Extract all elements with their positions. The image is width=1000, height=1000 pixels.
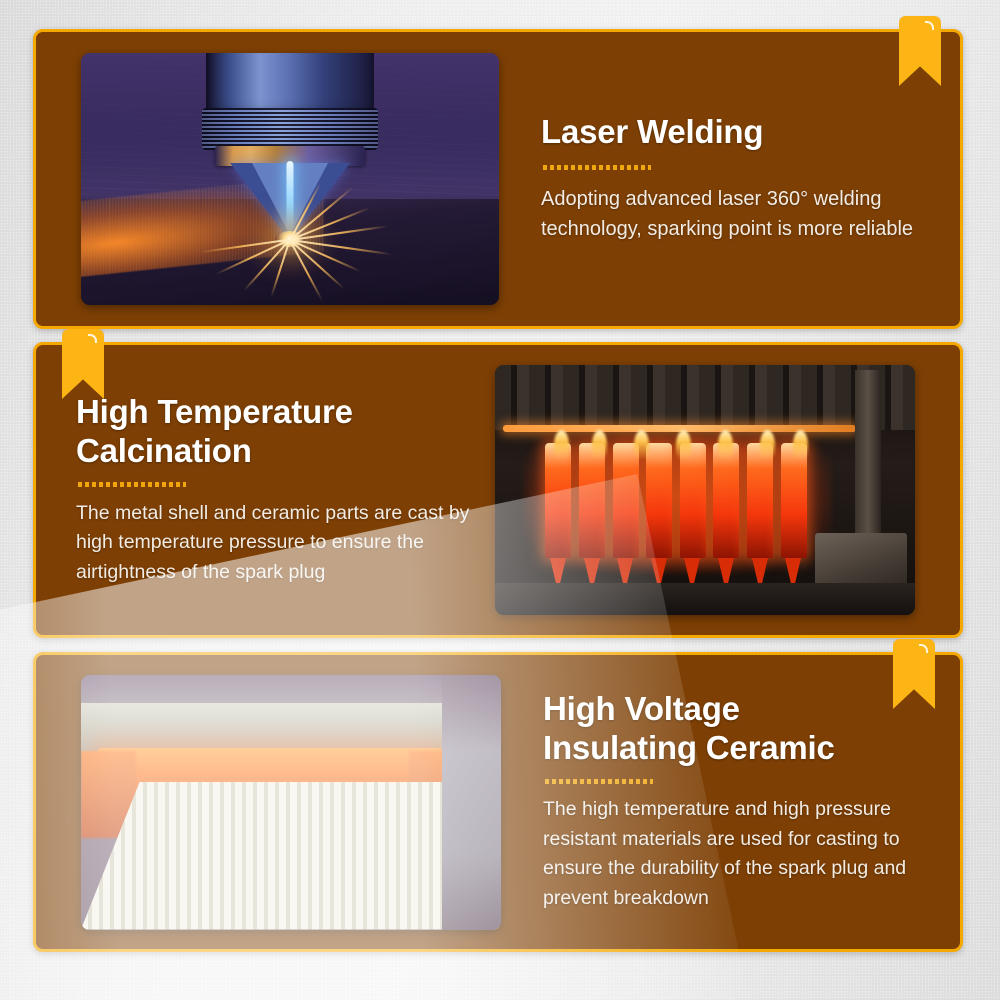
flame bbox=[760, 430, 775, 460]
photo-layer-press-top bbox=[495, 365, 915, 430]
card-title: High Voltage Insulating Ceramic bbox=[543, 690, 924, 768]
feature-card-high-temperature-calcination[interactable]: High Temperature Calcination The metal s… bbox=[33, 342, 963, 638]
flame bbox=[718, 430, 733, 460]
dotted-divider bbox=[543, 165, 651, 170]
photo-layer-kiln-ledge bbox=[81, 703, 451, 754]
flame bbox=[592, 430, 607, 460]
photo-layer-base bbox=[495, 583, 915, 616]
text-block: Laser Welding Adopting advanced laser 36… bbox=[499, 113, 960, 245]
flame bbox=[554, 430, 569, 460]
photo-layer-ceramic-bed bbox=[81, 782, 501, 930]
image-high-temperature-calcination bbox=[495, 365, 915, 615]
flame bbox=[676, 430, 691, 460]
bookmark-ribbon-icon bbox=[62, 329, 104, 399]
photo-layer-ridges bbox=[202, 108, 378, 150]
card-description: The metal shell and ceramic parts are ca… bbox=[76, 499, 475, 588]
flame bbox=[793, 430, 808, 460]
photo-layer-kiln-pillar bbox=[442, 675, 501, 930]
card-content: High Voltage Insulating Ceramic The high… bbox=[36, 655, 960, 949]
page-root: Laser Welding Adopting advanced laser 36… bbox=[0, 0, 1000, 1000]
dotted-divider bbox=[78, 482, 186, 487]
image-ceramic-kiln bbox=[81, 675, 501, 930]
bookmark-ribbon-icon bbox=[899, 16, 941, 86]
dotted-divider bbox=[545, 779, 653, 784]
bookmark-ribbon-icon bbox=[893, 639, 935, 709]
card-title: Laser Welding bbox=[541, 113, 924, 152]
card-content: Laser Welding Adopting advanced laser 36… bbox=[36, 32, 960, 326]
card-description: The high temperature and high pressure r… bbox=[543, 795, 924, 914]
hot-billet bbox=[646, 443, 672, 558]
text-block: High Voltage Insulating Ceramic The high… bbox=[501, 690, 960, 913]
ribbon-flag-shape bbox=[899, 16, 941, 86]
ribbon-flag-shape bbox=[893, 639, 935, 709]
flame bbox=[634, 430, 649, 460]
card-title: High Temperature Calcination bbox=[76, 393, 475, 471]
hot-billet bbox=[613, 443, 639, 558]
feature-card-laser-welding[interactable]: Laser Welding Adopting advanced laser 36… bbox=[33, 29, 963, 329]
card-description: Adopting advanced laser 360° welding tec… bbox=[541, 184, 924, 245]
text-block: High Temperature Calcination The metal s… bbox=[36, 393, 495, 588]
image-laser-welding bbox=[81, 53, 499, 305]
ribbon-flag-shape bbox=[62, 329, 104, 399]
feature-card-high-voltage-insulating-ceramic[interactable]: High Voltage Insulating Ceramic The high… bbox=[33, 652, 963, 952]
card-content: High Temperature Calcination The metal s… bbox=[36, 345, 960, 635]
